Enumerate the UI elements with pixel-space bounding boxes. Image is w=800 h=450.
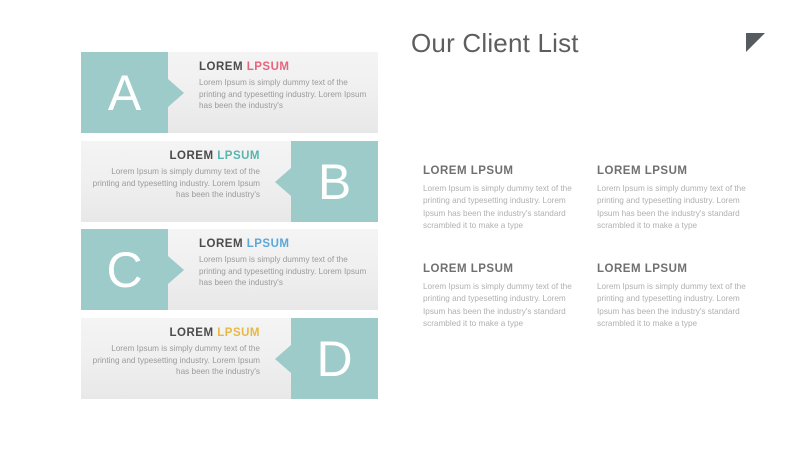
row-letter: B xyxy=(291,157,378,207)
client-list-infographic: A LOREM LPSUM Lorem Ipsum is simply dumm… xyxy=(81,52,378,400)
row-body: Lorem Ipsum is simply dummy text of the … xyxy=(199,77,371,112)
row-letter: C xyxy=(81,245,168,295)
cell-heading: LOREM LPSUM xyxy=(423,165,575,177)
row-heading-accent: LPSUM xyxy=(217,150,260,162)
letter-block-b: B xyxy=(291,141,378,222)
row-heading-accent: LPSUM xyxy=(217,327,260,339)
row-heading-main: LOREM xyxy=(170,327,214,339)
infographic-row-c[interactable]: C LOREM LPSUM Lorem Ipsum is simply dumm… xyxy=(81,229,378,310)
row-heading: LOREM LPSUM xyxy=(199,61,371,73)
cell-body: Lorem Ipsum is simply dummy text of the … xyxy=(423,183,575,232)
row-body: Lorem Ipsum is simply dummy text of the … xyxy=(88,343,260,378)
row-text-b: LOREM LPSUM Lorem Ipsum is simply dummy … xyxy=(88,150,260,201)
infographic-row-d[interactable]: D LOREM LPSUM Lorem Ipsum is simply dumm… xyxy=(81,318,378,399)
cell-body: Lorem Ipsum is simply dummy text of the … xyxy=(597,183,749,232)
row-heading-accent: LPSUM xyxy=(247,238,290,250)
arrow-tip-icon xyxy=(275,168,291,196)
triangle-icon xyxy=(746,33,765,52)
page-title: Our Client List xyxy=(411,28,579,59)
row-body: Lorem Ipsum is simply dummy text of the … xyxy=(88,166,260,201)
arrow-tip-icon xyxy=(168,256,184,284)
row-heading: LOREM LPSUM xyxy=(88,150,260,162)
arrow-tip-icon xyxy=(168,79,184,107)
letter-block-d: D xyxy=(291,318,378,399)
row-letter: A xyxy=(81,68,168,118)
row-heading-main: LOREM xyxy=(170,150,214,162)
row-letter: D xyxy=(291,334,378,384)
row-heading-main: LOREM xyxy=(199,61,243,73)
letter-block-a: A xyxy=(81,52,168,133)
infographic-row-a[interactable]: A LOREM LPSUM Lorem Ipsum is simply dumm… xyxy=(81,52,378,133)
row-heading: LOREM LPSUM xyxy=(88,327,260,339)
row-heading-accent: LPSUM xyxy=(247,61,290,73)
row-text-a: LOREM LPSUM Lorem Ipsum is simply dummy … xyxy=(199,61,371,112)
row-text-d: LOREM LPSUM Lorem Ipsum is simply dummy … xyxy=(88,327,260,378)
cell-body: Lorem Ipsum is simply dummy text of the … xyxy=(423,281,575,330)
cell-heading: LOREM LPSUM xyxy=(597,165,749,177)
description-cell-1[interactable]: LOREM LPSUM Lorem Ipsum is simply dummy … xyxy=(423,165,575,232)
infographic-row-b[interactable]: B LOREM LPSUM Lorem Ipsum is simply dumm… xyxy=(81,141,378,222)
description-cell-4[interactable]: LOREM LPSUM Lorem Ipsum is simply dummy … xyxy=(597,263,749,330)
letter-block-c: C xyxy=(81,229,168,310)
arrow-tip-icon xyxy=(275,345,291,373)
row-heading: LOREM LPSUM xyxy=(199,238,371,250)
cell-body: Lorem Ipsum is simply dummy text of the … xyxy=(597,281,749,330)
row-heading-main: LOREM xyxy=(199,238,243,250)
cell-heading: LOREM LPSUM xyxy=(597,263,749,275)
description-cell-3[interactable]: LOREM LPSUM Lorem Ipsum is simply dummy … xyxy=(423,263,575,330)
cell-heading: LOREM LPSUM xyxy=(423,263,575,275)
row-body: Lorem Ipsum is simply dummy text of the … xyxy=(199,254,371,289)
description-cell-2[interactable]: LOREM LPSUM Lorem Ipsum is simply dummy … xyxy=(597,165,749,232)
row-text-c: LOREM LPSUM Lorem Ipsum is simply dummy … xyxy=(199,238,371,289)
